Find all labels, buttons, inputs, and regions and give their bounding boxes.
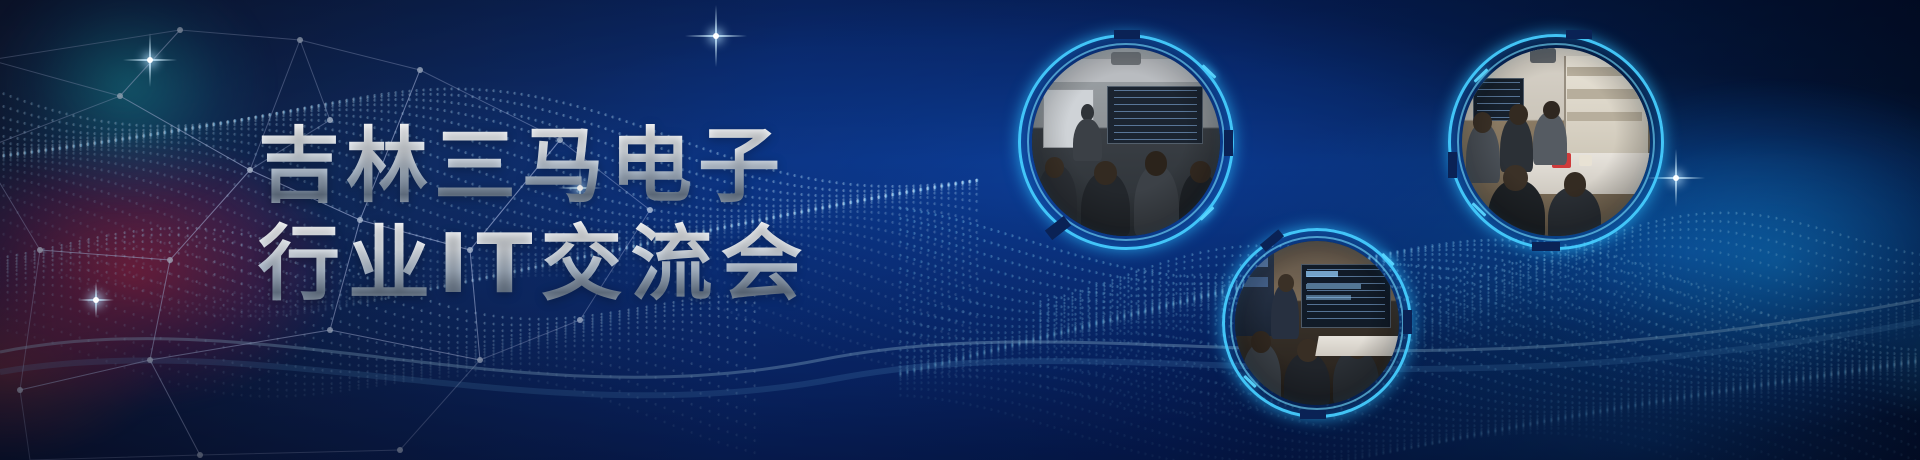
photo-ring-inner-presentation [1230,236,1404,410]
ring-notch-right [1224,130,1233,156]
photo-meeting-room-presenter [1018,34,1234,250]
event-banner: 吉林三马电子 行业IT交流会 [0,0,1920,460]
photo-conference-table-group [1448,34,1664,250]
ring-notch-bottom [1532,242,1560,251]
headline: 吉林三马电子 行业IT交流会 [258,118,998,314]
ring-notch-top [1114,30,1140,39]
photo-ring-inner-table-group [1457,43,1655,241]
ring-notch-left [1448,152,1457,178]
headline-line-1: 吉林三马电子 [258,118,998,216]
ring-notch-top [1566,30,1592,39]
ring-notch-bottom [1300,410,1326,419]
photo-ring-inner-presenter [1027,43,1225,241]
ring-notch-right [1403,310,1412,334]
photo-presentation-screen [1222,228,1412,418]
headline-line-2: 行业IT交流会 [258,216,998,314]
